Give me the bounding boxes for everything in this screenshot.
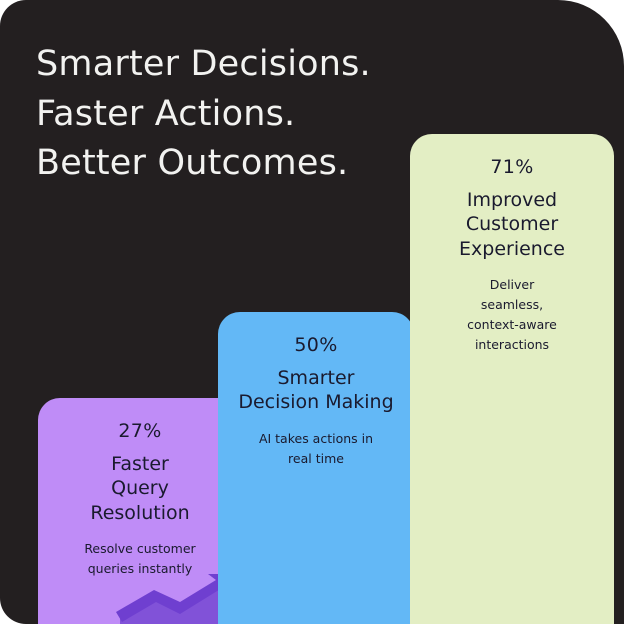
bar-description: AI takes actions in real time bbox=[218, 429, 414, 469]
bar-percent-value: 50% bbox=[218, 334, 414, 356]
bar-title: Faster Query Resolution bbox=[38, 452, 242, 525]
bar-title: Improved Customer Experience bbox=[410, 188, 614, 261]
bar-improved-customer-experience[interactable]: 71% Improved Customer Experience Deliver… bbox=[410, 134, 614, 624]
bar-title: Smarter Decision Making bbox=[218, 366, 414, 415]
bar-faster-query-resolution[interactable]: 27% Faster Query Resolution Resolve cust… bbox=[38, 398, 242, 624]
bar-smarter-decision-making[interactable]: 50% Smarter Decision Making AI takes act… bbox=[218, 312, 414, 624]
infographic-canvas: Smarter Decisions. Faster Actions. Bette… bbox=[0, 0, 624, 624]
bar-chart: 27% Faster Query Resolution Resolve cust… bbox=[0, 0, 624, 624]
bar-description: Deliver seamless, context-aware interact… bbox=[410, 275, 614, 355]
bar-percent-value: 27% bbox=[38, 420, 242, 442]
bar-percent-value: 71% bbox=[410, 156, 614, 178]
